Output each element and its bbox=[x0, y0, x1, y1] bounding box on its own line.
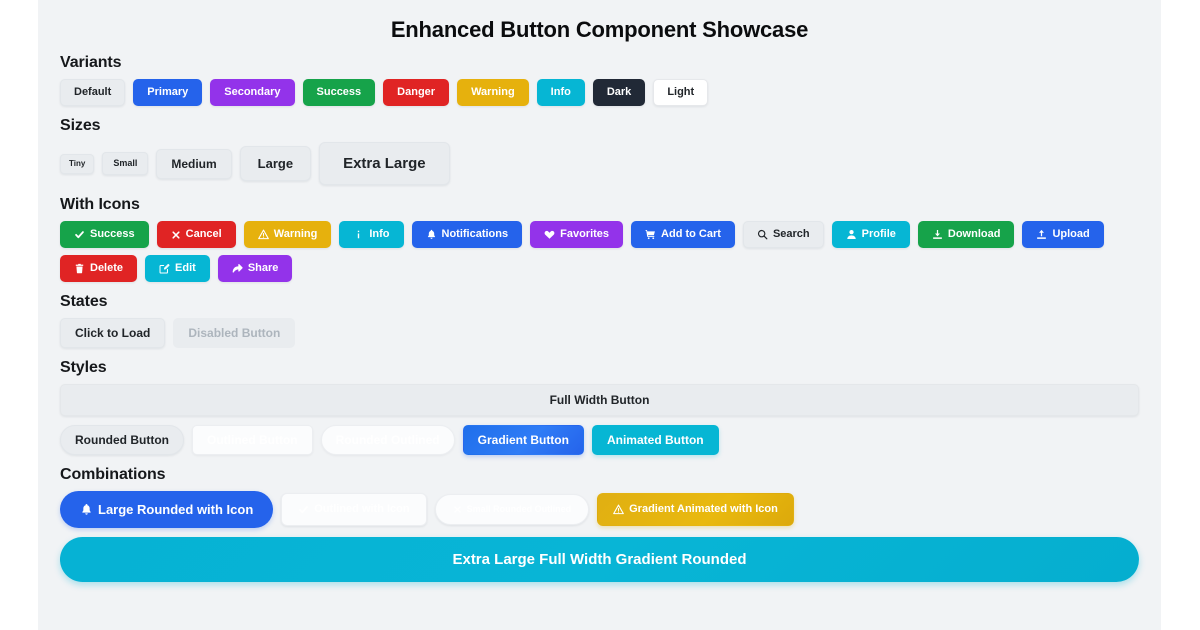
icon-button-label: Cancel bbox=[186, 229, 222, 240]
section-title-styles: Styles bbox=[60, 348, 1139, 384]
style-button-outlined[interactable]: Outlined Button bbox=[192, 425, 313, 455]
icon-button-search[interactable]: Search bbox=[743, 221, 824, 248]
icon-button-delete[interactable]: Delete bbox=[60, 255, 137, 282]
size-button-small[interactable]: Small bbox=[102, 152, 148, 175]
size-button-extra-large[interactable]: Extra Large bbox=[319, 142, 450, 185]
sizes-button-row: Tiny Small Medium Large Extra Large bbox=[60, 142, 1139, 185]
icon-button-favorites[interactable]: Favorites bbox=[530, 221, 623, 248]
icon-button-label: Search bbox=[773, 229, 810, 240]
combination-button-extra-large-full-width-gradient-rounded[interactable]: Extra Large Full Width Gradient Rounded bbox=[60, 537, 1139, 582]
icon-button-success[interactable]: Success bbox=[60, 221, 149, 248]
section-sizes: Sizes Tiny Small Medium Large Extra Larg… bbox=[38, 106, 1161, 185]
warning-icon bbox=[613, 504, 624, 515]
icon-button-label: Delete bbox=[90, 263, 123, 274]
section-states: States Click to Load Disabled Button bbox=[38, 282, 1161, 348]
search-icon bbox=[757, 229, 768, 240]
icon-button-edit[interactable]: Edit bbox=[145, 255, 210, 282]
style-button-rounded[interactable]: Rounded Button bbox=[60, 425, 184, 455]
icon-button-add-to-cart[interactable]: Add to Cart bbox=[631, 221, 735, 248]
icon-button-label: Favorites bbox=[560, 229, 609, 240]
variant-button-dark[interactable]: Dark bbox=[593, 79, 645, 106]
icon-button-label: Share bbox=[248, 263, 279, 274]
style-button-gradient[interactable]: Gradient Button bbox=[463, 425, 584, 455]
section-title-sizes: Sizes bbox=[60, 106, 1139, 142]
section-styles: Styles Full Width Button Rounded Button … bbox=[38, 348, 1161, 455]
upload-icon bbox=[1036, 229, 1047, 240]
style-button-full-width[interactable]: Full Width Button bbox=[60, 384, 1139, 416]
variant-button-light[interactable]: Light bbox=[653, 79, 708, 106]
combination-button-label: Large Rounded with Icon bbox=[98, 503, 253, 516]
icon-button-label: Download bbox=[948, 229, 1001, 240]
bell-icon bbox=[426, 229, 437, 240]
size-button-large[interactable]: Large bbox=[240, 146, 311, 181]
download-icon bbox=[932, 229, 943, 240]
section-title-states: States bbox=[60, 282, 1139, 318]
section-combinations: Combinations Large Rounded with Icon Out… bbox=[38, 455, 1161, 582]
icon-button-download[interactable]: Download bbox=[918, 221, 1015, 248]
section-with-icons: With Icons Success Cancel Warning Info N… bbox=[38, 185, 1161, 282]
icon-button-upload[interactable]: Upload bbox=[1022, 221, 1103, 248]
icon-button-label: Notifications bbox=[442, 229, 509, 240]
with-icons-button-row: Success Cancel Warning Info Notification… bbox=[60, 221, 1139, 282]
icon-button-label: Profile bbox=[862, 229, 896, 240]
combination-button-large-rounded-with-icon[interactable]: Large Rounded with Icon bbox=[60, 491, 273, 528]
icon-button-profile[interactable]: Profile bbox=[832, 221, 910, 248]
icon-button-label: Warning bbox=[274, 229, 318, 240]
variant-button-secondary[interactable]: Secondary bbox=[210, 79, 294, 106]
section-title-combinations: Combinations bbox=[60, 455, 1139, 491]
variant-button-default[interactable]: Default bbox=[60, 79, 125, 106]
combination-button-outlined-with-icon[interactable]: Outlined with Icon bbox=[281, 493, 426, 526]
icon-button-label: Add to Cart bbox=[661, 229, 721, 240]
variant-button-warning[interactable]: Warning bbox=[457, 79, 529, 106]
variant-button-primary[interactable]: Primary bbox=[133, 79, 202, 106]
edit-icon bbox=[159, 263, 170, 274]
check-icon bbox=[74, 229, 85, 240]
combination-button-small-rounded-outlined[interactable]: Small Rounded Outlined bbox=[435, 494, 590, 525]
x-icon bbox=[453, 505, 462, 514]
state-button-disabled: Disabled Button bbox=[173, 318, 295, 348]
icon-button-label: Upload bbox=[1052, 229, 1089, 240]
icon-button-notifications[interactable]: Notifications bbox=[412, 221, 523, 248]
variant-button-success[interactable]: Success bbox=[303, 79, 376, 106]
trash-icon bbox=[74, 263, 85, 274]
styles-button-row: Rounded Button Outlined Button Rounded O… bbox=[60, 425, 1139, 455]
section-title-with-icons: With Icons bbox=[60, 185, 1139, 221]
x-icon bbox=[171, 230, 181, 240]
combination-button-label: Small Rounded Outlined bbox=[467, 505, 572, 514]
icon-button-label: Success bbox=[90, 229, 135, 240]
style-button-animated[interactable]: Animated Button bbox=[592, 425, 719, 455]
variants-button-row: Default Primary Secondary Success Danger… bbox=[60, 79, 1139, 106]
bell-icon bbox=[80, 503, 93, 516]
combinations-button-row: Large Rounded with Icon Outlined with Ic… bbox=[60, 491, 1139, 528]
icon-button-label: Info bbox=[369, 229, 389, 240]
cart-icon bbox=[645, 229, 656, 240]
share-icon bbox=[232, 263, 243, 274]
warning-icon bbox=[258, 229, 269, 240]
page-title: Enhanced Button Component Showcase bbox=[38, 0, 1161, 43]
variant-button-danger[interactable]: Danger bbox=[383, 79, 449, 106]
icon-button-info[interactable]: Info bbox=[339, 221, 403, 248]
icon-button-label: Edit bbox=[175, 263, 196, 274]
section-variants: Variants Default Primary Secondary Succe… bbox=[38, 43, 1161, 106]
heart-icon bbox=[544, 229, 555, 240]
user-icon bbox=[846, 229, 857, 240]
states-button-row: Click to Load Disabled Button bbox=[60, 318, 1139, 348]
combination-button-label: Gradient Animated with Icon bbox=[629, 504, 778, 515]
info-icon bbox=[353, 229, 364, 240]
showcase-page: Enhanced Button Component Showcase Varia… bbox=[38, 0, 1161, 630]
variant-button-info[interactable]: Info bbox=[537, 79, 585, 106]
size-button-medium[interactable]: Medium bbox=[156, 149, 231, 179]
icon-button-cancel[interactable]: Cancel bbox=[157, 221, 236, 248]
icon-button-share[interactable]: Share bbox=[218, 255, 293, 282]
combinations-full-width-row: Extra Large Full Width Gradient Rounded bbox=[60, 537, 1139, 582]
check-icon bbox=[298, 504, 309, 515]
icon-button-warning[interactable]: Warning bbox=[244, 221, 332, 248]
combination-button-gradient-animated-with-icon[interactable]: Gradient Animated with Icon bbox=[597, 493, 794, 526]
state-button-click-to-load[interactable]: Click to Load bbox=[60, 318, 165, 348]
style-button-rounded-outlined[interactable]: Rounded Outlined bbox=[321, 425, 455, 455]
combination-button-label: Outlined with Icon bbox=[314, 504, 409, 515]
size-button-tiny[interactable]: Tiny bbox=[60, 154, 94, 174]
styles-full-width-row: Full Width Button bbox=[60, 384, 1139, 416]
section-title-variants: Variants bbox=[60, 43, 1139, 79]
